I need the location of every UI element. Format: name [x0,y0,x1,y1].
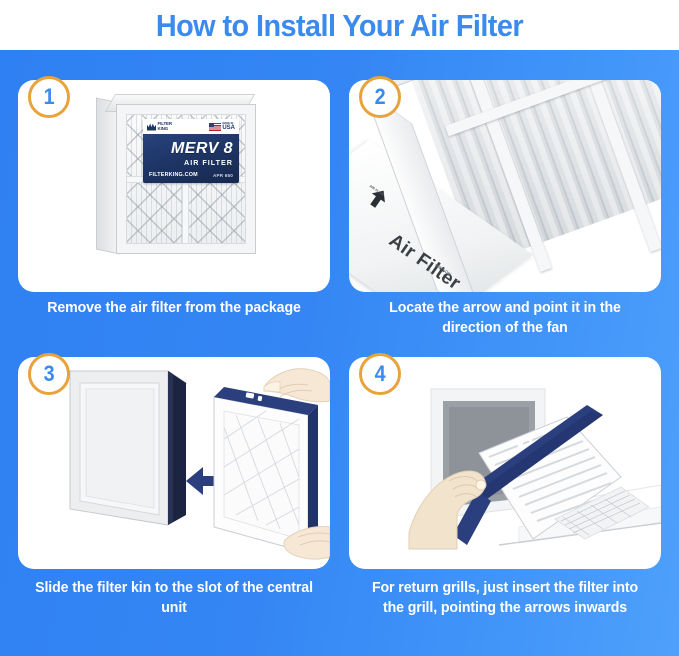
step-2-card: AIR FLOW Air Filter AIRFLOW [349,80,661,292]
step-panel-3: 3 [18,357,330,569]
filter-king-logo: FILTER KING [147,122,172,131]
step-caption-3: Slide the filter kin to the slot of the … [27,578,322,618]
step-panel-2: AIR FLOW Air Filter AIRFLOW 2 [349,80,661,292]
step-badge-1: 1 [28,76,70,118]
made-in-usa-block: MADE IN USA [209,122,235,131]
label-top-strip: FILTER KING MADE IN USA [143,119,239,134]
merv-rating: MERV 8 [143,141,233,157]
step-caption-2: Locate the arrow and point it in the dir… [363,298,646,338]
step-4-card [349,357,661,569]
brand-name: FILTER KING [158,122,172,131]
country-label: USA [222,125,235,131]
step-1-card: FILTER KING MADE IN USA [18,80,330,292]
made-in-usa-text: MADE IN USA [222,122,235,131]
brand-line-2: KING [158,127,172,132]
filter-front-face: FILTER KING MADE IN USA [116,104,256,254]
us-flag-icon [209,123,221,131]
step-3-card [18,357,330,569]
step-caption-1: Remove the air filter from the package [23,298,326,318]
apr-rating-label: APR 650 [213,173,233,178]
header-band: How to Install Your Air Filter [0,0,679,50]
step-number-3: 3 [43,363,54,385]
step-badge-2: 2 [359,76,401,118]
crown-icon [147,123,156,131]
filter-panel-being-inserted [214,387,318,553]
return-grill-illustration [349,357,661,569]
step-caption-4: For return grills, just insert the filte… [369,578,641,618]
slide-filter-illustration [18,357,330,569]
central-unit-slot [70,371,186,525]
product-type-label: AIR FILTER [143,158,233,167]
step-panel-4: 4 [349,357,661,569]
step-badge-4: 4 [359,353,401,395]
filter-corner-photo: AIR FLOW Air Filter AIRFLOW [349,80,661,292]
page-title: How to Install Your Air Filter [156,10,523,41]
filter-product-label: FILTER KING MADE IN USA [143,119,239,183]
step-panel-1: FILTER KING MADE IN USA [18,80,330,292]
air-filter-product-photo: FILTER KING MADE IN USA [96,94,264,262]
step-badge-3: 3 [28,353,70,395]
step-number-2: 2 [374,86,385,108]
website-label: FILTERKING.COM [149,172,198,178]
step-number-4: 4 [374,363,385,385]
step-number-1: 1 [43,86,54,108]
infographic-root: How to Install Your Air Filter [0,0,679,656]
